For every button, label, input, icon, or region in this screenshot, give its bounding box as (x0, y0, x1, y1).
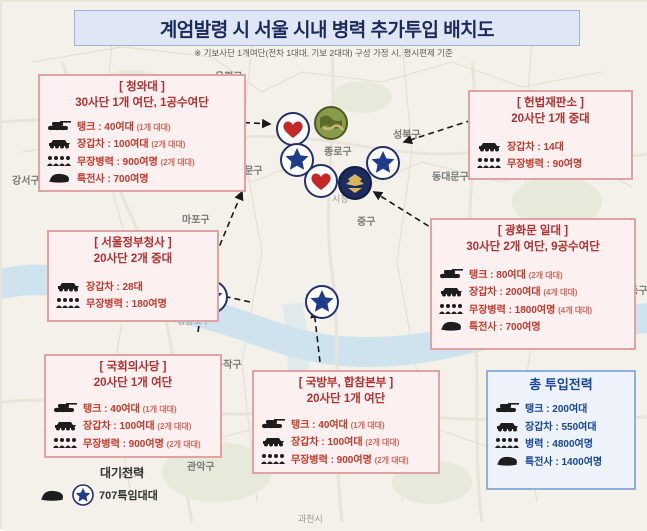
row-label: 무장병력 : 900여명 (2개 대대) (77, 153, 195, 168)
table-row: 탱크 : 40여대 (1개 대대) (260, 416, 432, 431)
box-total-forces: 총 투입전력 탱크 : 200여대 장갑차 : 550여대 병력 : 4800여… (486, 370, 636, 490)
table-row: 장갑차 : 100여대 (2개 대대) (52, 417, 214, 432)
table-row: 탱크 : 200여대 (494, 400, 628, 415)
row-label: 장갑차 : 200여대 (4개 대대) (469, 283, 577, 298)
box-gwanghwamun-header: [ 광화문 일대 ]30사단 2개 여단, 9공수여단 (432, 220, 634, 257)
beret-icon (46, 171, 72, 184)
marker-camo-shield (314, 106, 348, 140)
box-seoul-gov-complex-header: [ 서울정부청사 ]20사단 2개 중대 (49, 232, 217, 269)
table-row: 특전사 : 700여명 (438, 318, 628, 333)
marker-heart-shield-mid (304, 164, 338, 198)
row-label: 장갑차 : 550여대 (525, 418, 597, 433)
table-row: 병력 : 4800여명 (494, 435, 628, 450)
row-label: 장갑차 : 100여대 (2개 대대) (83, 417, 191, 432)
apc-icon (46, 136, 72, 149)
box-cheongwadae: [ 청와대 ]30사단 1개 여단, 1공수여단 탱크 : 40여대 (1개 대… (38, 74, 246, 192)
row-label: 특전사 : 700여명 (77, 170, 149, 185)
box-national-assembly: [ 국회의사당 ]20사단 1개 여단 탱크 : 40여대 (1개 대대) 장갑… (44, 354, 222, 458)
troops-icon (46, 154, 72, 167)
box-constitutional-court: [ 헌법재판소 ]20사단 1개 중대 장갑차 : 14대 무장병력 : 90여… (468, 90, 633, 180)
row-label: 무장병력 : 900여명 (2개 대대) (83, 435, 201, 450)
row-label: 무장병력 : 1800여명 (4개 대대) (469, 301, 592, 316)
unit-crest-icon (72, 484, 94, 506)
tank-icon (260, 417, 286, 430)
troops-icon (52, 436, 78, 449)
row-label: 탱크 : 40여대 (1개 대대) (291, 416, 385, 431)
troops-icon (494, 436, 520, 449)
row-label: 무장병력 : 90여명 (507, 155, 582, 170)
row-label: 탱크 : 40여대 (1개 대대) (83, 400, 177, 415)
table-row: 탱크 : 80여대 (2개 대대) (438, 266, 628, 281)
tank-icon (52, 401, 78, 414)
row-label: 장갑차 : 100여대 (2개 대대) (291, 433, 399, 448)
table-row: 특전사 : 1400여명 (494, 453, 628, 468)
tank-icon (438, 267, 464, 280)
troops-icon (260, 452, 286, 465)
table-row: 특전사 : 700여명 (46, 170, 238, 185)
table-row: 장갑차 : 14대 (476, 138, 625, 153)
apc-icon (55, 279, 81, 292)
box-mnd-jcs-header: [ 국방부, 합참본부 ]20사단 1개 여단 (254, 372, 438, 409)
row-label: 탱크 : 80여대 (2개 대대) (469, 266, 563, 281)
box-gwanghwamun: [ 광화문 일대 ]30사단 2개 여단, 9공수여단 탱크 : 80여대 (2… (430, 218, 636, 350)
table-row: 무장병력 : 90여명 (476, 155, 625, 170)
row-label: 탱크 : 200여대 (525, 400, 587, 415)
troops-icon (438, 302, 464, 315)
table-row: 장갑차 : 550여대 (494, 418, 628, 433)
tank-icon (494, 401, 520, 414)
row-label: 무장병력 : 900여명 (2개 대대) (291, 451, 409, 466)
row-label: 장갑차 : 28대 (86, 278, 143, 293)
row-label: 장갑차 : 100여대 (2개 대대) (77, 135, 185, 150)
apc-icon (52, 418, 78, 431)
page-title-text: 계엄발령 시 서울 시내 병력 추가투입 배치도 (160, 15, 494, 42)
box-constitutional-court-header: [ 헌법재판소 ]20사단 1개 중대 (470, 92, 631, 129)
row-label: 장갑차 : 14대 (507, 138, 564, 153)
table-row: 장갑차 : 28대 (55, 278, 211, 293)
troops-icon (476, 156, 502, 169)
table-row: 장갑차 : 200여대 (4개 대대) (438, 283, 628, 298)
table-row: 무장병력 : 900여명 (2개 대대) (46, 153, 238, 168)
row-label: 특전사 : 700여명 (469, 318, 541, 333)
page-title: 계엄발령 시 서울 시내 병력 추가투입 배치도 (74, 10, 580, 46)
infographic-root: 은평구 성북구 종로구 대문구 동대문구 강서구 마포구 시청 중구 용 강동구… (0, 0, 647, 529)
standby-force-group: 대기전력 707특임대대 (38, 464, 218, 506)
apc-icon (438, 284, 464, 297)
box-national-assembly-header: [ 국회의사당 ]20사단 1개 여단 (46, 356, 220, 393)
beret-icon (494, 454, 520, 467)
tank-icon (46, 119, 72, 132)
arrow-to-constitutional-court (404, 120, 472, 142)
row-label: 특전사 : 1400여명 (525, 453, 602, 468)
table-row: 탱크 : 40여대 (1개 대대) (46, 118, 238, 133)
apc-icon (476, 139, 502, 152)
beret-icon (38, 488, 66, 502)
row-label: 탱크 : 40여대 (1개 대대) (77, 118, 171, 133)
table-row: 무장병력 : 900여명 (2개 대대) (52, 435, 214, 450)
table-row: 장갑차 : 100여대 (2개 대대) (260, 433, 432, 448)
subtitle-note: ※ 기보사단 1개여단(전차 1대대, 기보 2대대) 구성 가정 시, 평시편… (2, 47, 645, 59)
troops-icon (55, 296, 81, 309)
table-row: 장갑차 : 100여대 (2개 대대) (46, 135, 238, 150)
row-label: 무장병력 : 180여명 (86, 295, 167, 310)
apc-icon (494, 419, 520, 432)
marker-heart-shield-top (276, 112, 310, 146)
table-row: 무장병력 : 180여명 (55, 295, 211, 310)
table-row: 무장병력 : 1800여명 (4개 대대) (438, 301, 628, 316)
box-seoul-gov-complex: [ 서울정부청사 ]20사단 2개 중대 장갑차 : 28대 무장병력 : 18… (47, 230, 219, 322)
box-total-forces-header: 총 투입전력 (488, 372, 634, 396)
table-row: 무장병력 : 900여명 (2개 대대) (260, 451, 432, 466)
apc-icon (260, 434, 286, 447)
box-mnd-jcs: [ 국방부, 합참본부 ]20사단 1개 여단 탱크 : 40여대 (1개 대대… (252, 370, 440, 474)
table-row: 탱크 : 40여대 (1개 대대) (52, 400, 214, 415)
box-cheongwadae-header: [ 청와대 ]30사단 1개 여단, 1공수여단 (40, 76, 244, 113)
marker-star-shield-mnd (305, 285, 339, 319)
standby-force-unit: 707특임대대 (99, 487, 158, 503)
beret-icon (438, 319, 464, 332)
marker-eagle-shield (338, 166, 372, 200)
row-label: 병력 : 4800여명 (525, 435, 593, 450)
standby-force-title: 대기전력 (100, 464, 218, 481)
